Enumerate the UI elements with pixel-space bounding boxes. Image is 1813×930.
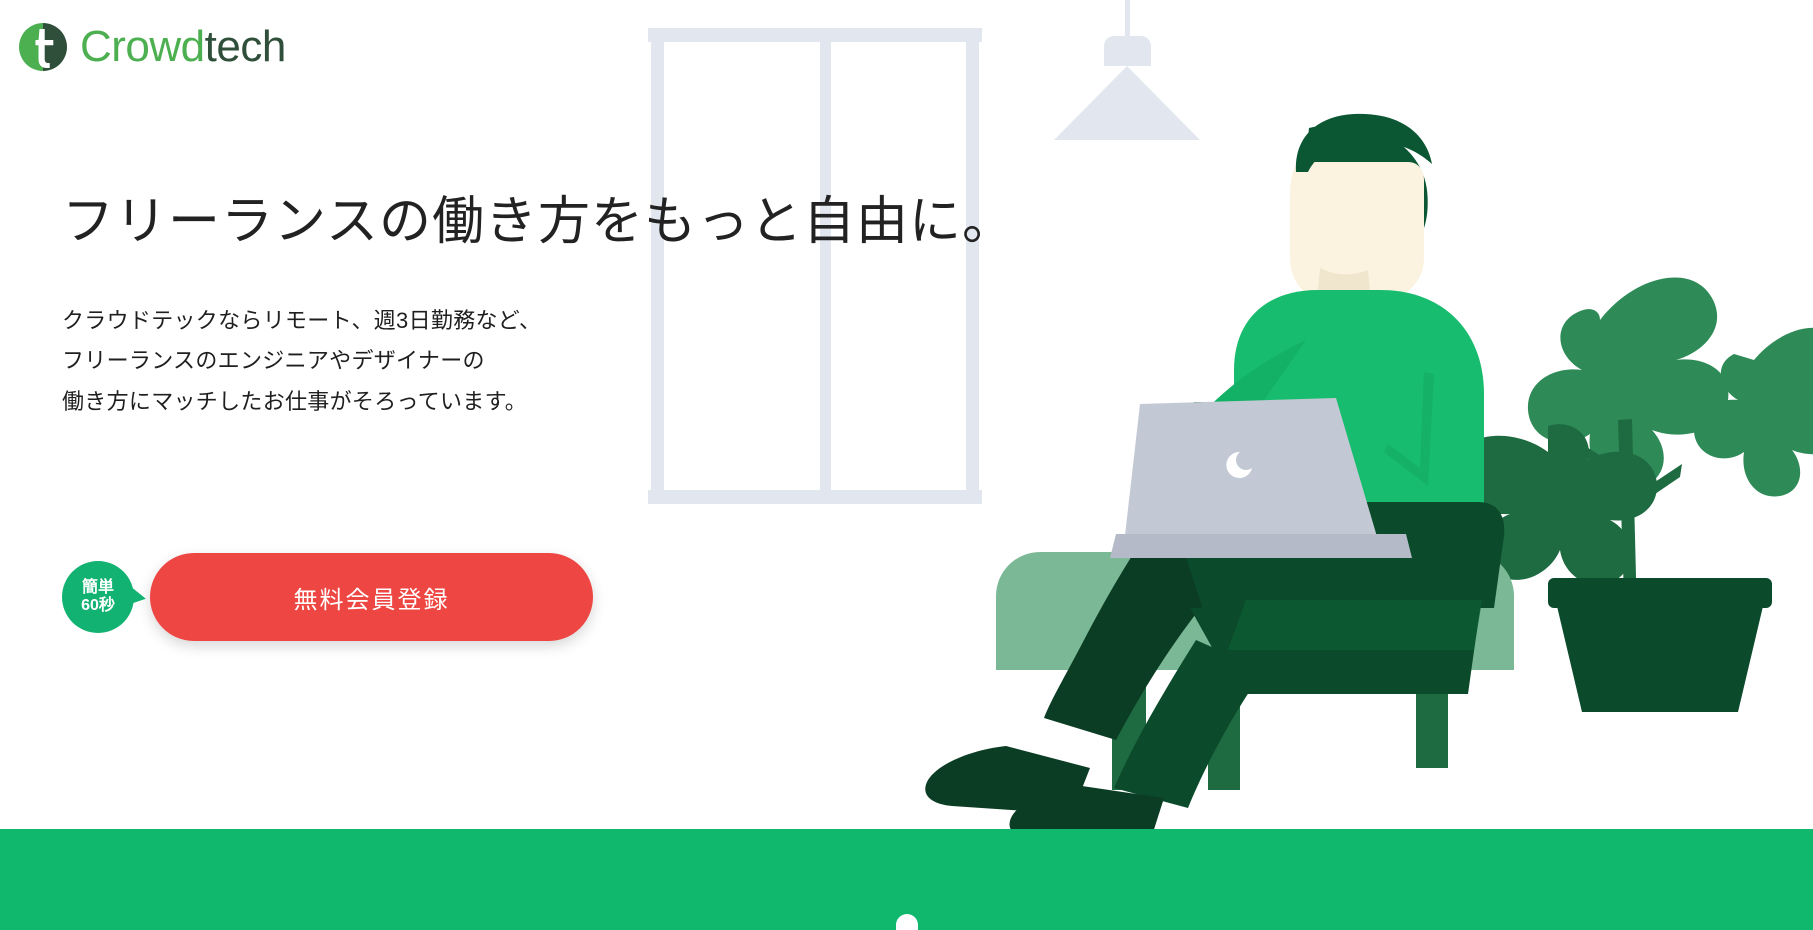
pendant-lamp-icon [1054,0,1200,140]
hero-cta-group: 簡単 60秒 無料会員登録 [62,553,593,641]
signup-time-badge-line-2: 60秒 [81,597,115,615]
brand-logo-word-crowd: Crowd [80,25,205,69]
brand-logo-wordmark: Crowd tech [80,25,286,69]
hero-lead-text: クラウドテックならリモート、週3日勤務など、 フリーランスのエンジニアやデザイナ… [62,301,1062,423]
laptop-icon [1110,398,1412,558]
page-title: フリーランスの働き方をもっと自由に。 [62,193,1062,253]
armchair-icon [996,402,1598,790]
section-divider-notch [896,914,918,930]
potted-plant-icon [1450,278,1813,712]
next-section-green-band [0,829,1813,930]
brand-logo-word-tech: tech [205,25,286,69]
brand-logo[interactable]: Crowd tech [18,22,286,72]
landing-page: Crowd tech フリーランスの働き方をもっと自由に。 クラウドテックならリ… [0,0,1813,930]
hero-lead-line-3: 働き方にマッチしたお仕事がそろっています。 [62,382,1062,423]
signup-time-badge: 簡単 60秒 [62,561,134,633]
hero-copy: フリーランスの働き方をもっと自由に。 クラウドテックならリモート、週3日勤務など… [62,193,1062,423]
crowdtech-circle-t-logo-icon [18,22,68,72]
free-signup-button[interactable]: 無料会員登録 [150,553,593,641]
signup-time-badge-line-1: 簡単 [82,579,114,597]
hero-lead-line-2: フリーランスのエンジニアやデザイナーの [62,341,1062,382]
hero-section: Crowd tech フリーランスの働き方をもっと自由に。 クラウドテックならリ… [0,0,1813,829]
hero-lead-line-1: クラウドテックならリモート、週3日勤務など、 [62,301,1062,342]
